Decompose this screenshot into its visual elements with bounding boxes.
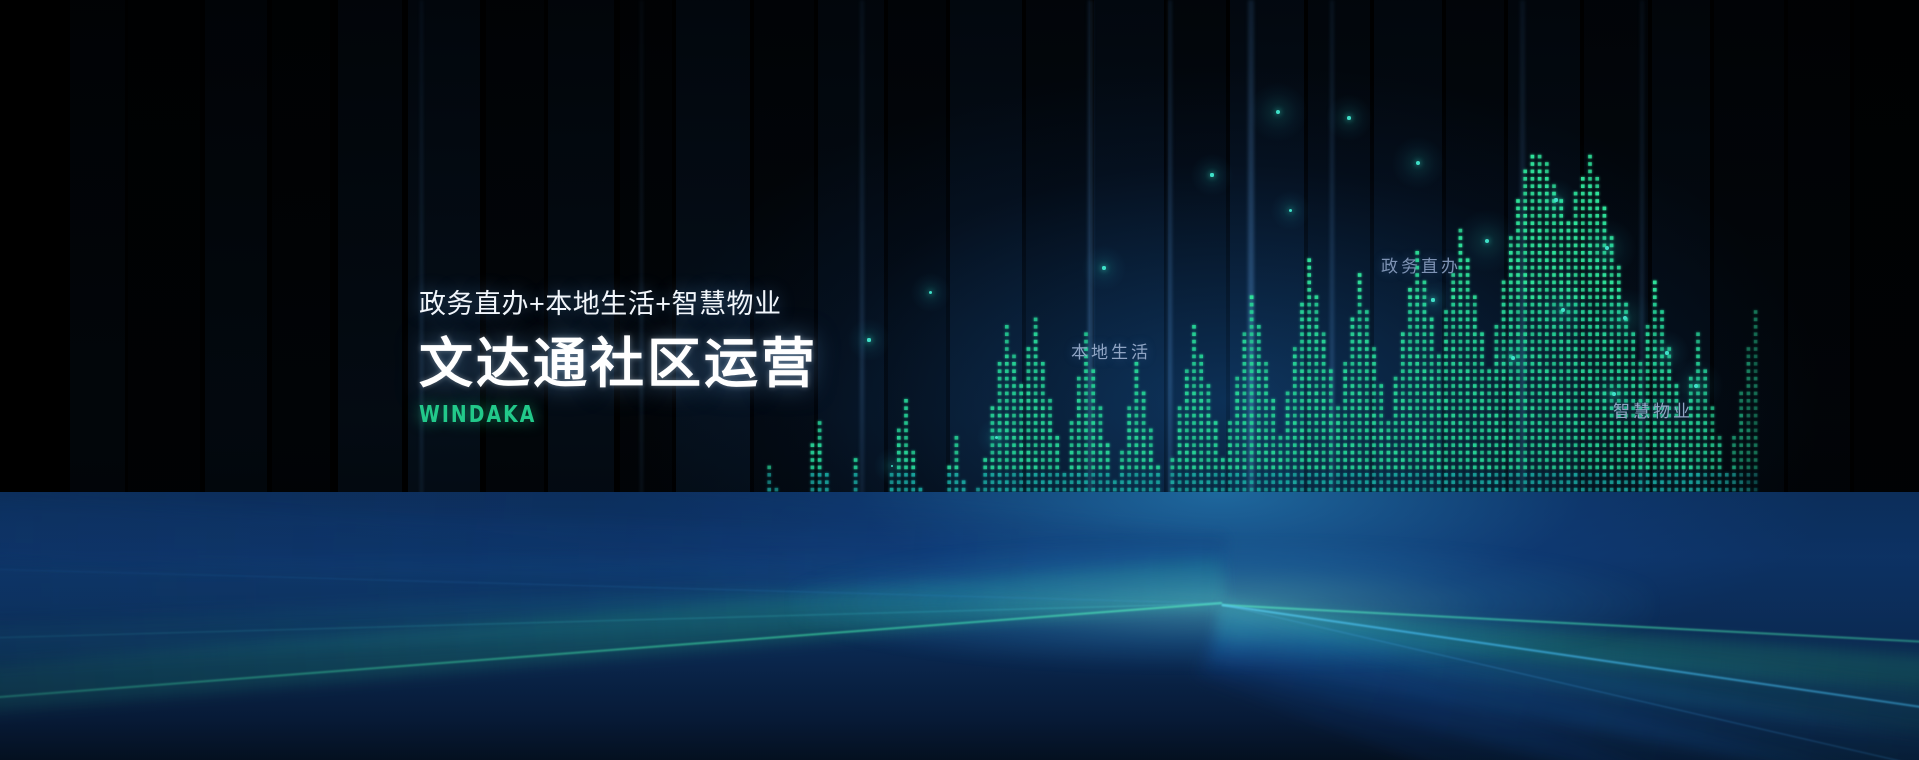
hero-copy-block: 政务直办+本地生活+智慧物业 文达通社区运营 WINDAKA: [419, 290, 979, 428]
perspective-floor: [0, 492, 1919, 760]
brand-wordmark: WINDAKA: [419, 402, 878, 428]
hero-banner: 政务直办+本地生活+智慧物业 文达通社区运营 WINDAKA 政务直办本地生活智…: [0, 0, 1919, 760]
hero-headline: 文达通社区运营: [419, 334, 979, 394]
floating-label-2: 本地生活: [1071, 338, 1151, 363]
floating-label-3: 智慧物业: [1613, 397, 1693, 422]
horizon-glow: [792, 542, 1652, 666]
floating-label-1: 政务直办: [1381, 252, 1461, 277]
hero-subtitle: 政务直办+本地生活+智慧物业: [419, 290, 979, 320]
